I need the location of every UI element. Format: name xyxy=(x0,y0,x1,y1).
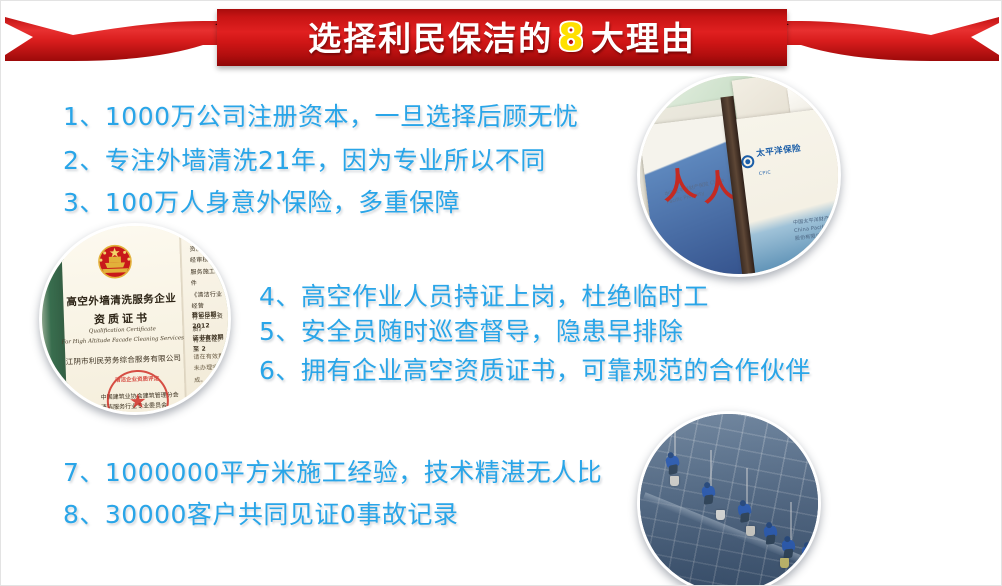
reason-text-7: 1000000平方米施工经验，技术精湛无人比 xyxy=(105,458,602,487)
reason-index-5: 5、 xyxy=(259,317,301,346)
reason-item-1: 1、1000万公司注册资本，一旦选择后顾无忧 xyxy=(63,97,579,133)
cpic-logo: 太平洋保险 CPIC xyxy=(739,136,804,181)
reason-index-4: 4、 xyxy=(259,282,301,311)
ribbon-banner: 选择利民保洁的8大理由 xyxy=(1,1,1002,73)
certificate-right-col-4: 地址：“中 网址： 电话： xyxy=(195,389,224,415)
cpic-logo-cn: 太平洋保险 xyxy=(756,144,802,159)
reason-index-8: 8、 xyxy=(63,500,105,529)
cpic-logo-mark-icon xyxy=(740,154,754,168)
reason-item-8: 8、30000客户共同见证0事故记录 xyxy=(63,495,458,531)
reason-text-8: 30000客户共同见证0事故记录 xyxy=(105,500,458,529)
reason-item-3: 3、100万人身意外保险，多重保障 xyxy=(63,183,460,219)
building-scene xyxy=(637,411,821,586)
reason-text-2: 专注外墙清洗21年，因为专业所以不同 xyxy=(105,146,546,175)
certificate-right-col-2: 登记日期： 2012 证书有效期至 2 xyxy=(192,309,230,356)
promo-poster: 选择利民保洁的8大理由 1、1000万公司注册资本，一旦选择后顾无忧 2、专注外… xyxy=(0,0,1002,586)
certificate-issuer-label: 发证机关 xyxy=(69,400,93,410)
photo-qualification-certificate: 高空外墙清洗服务企业 资质证书 Qualification Certificat… xyxy=(39,223,231,415)
reason-item-7: 7、1000000平方米施工经验，技术精湛无人比 xyxy=(63,453,602,489)
certificate-right-col-3: 请在有效期 未办理完成。 xyxy=(193,351,230,386)
reason-item-5: 5、安全员随时巡查督导，隐患早排除 xyxy=(259,312,683,348)
banner-number: 8 xyxy=(553,16,591,59)
banner-panel: 选择利民保洁的8大理由 xyxy=(217,9,787,66)
reason-text-4: 高空作业人员持证上岗，杜绝临时工 xyxy=(301,282,709,311)
cpic-logo-text: 太平洋保险 CPIC xyxy=(755,136,804,179)
reason-text-6: 拥有企业高空资质证书，可靠规范的合作伙伴 xyxy=(301,356,811,385)
reason-index-7: 7、 xyxy=(63,458,105,487)
reason-text-1: 1000万公司注册资本，一旦选择后顾无忧 xyxy=(105,102,579,131)
seal-top-text: 清洁企业资质评定 xyxy=(108,374,166,384)
certificate-red-seal-icon: 清洁企业资质评定 ★ 专用章 xyxy=(106,369,170,415)
cpic-footer: 中国太平洋财产保险 China Pacific Property Ins. 股份… xyxy=(793,211,841,243)
photo-high-altitude-workers xyxy=(637,411,821,586)
reason-text-3: 100万人身意外保险，多重保障 xyxy=(105,188,460,217)
reason-item-4: 4、高空作业人员持证上岗，杜绝临时工 xyxy=(259,277,709,313)
reason-item-2: 2、专注外墙清洗21年，因为专业所以不同 xyxy=(63,141,546,177)
seal-star-icon: ★ xyxy=(129,391,148,412)
reason-index-1: 1、 xyxy=(63,102,105,131)
national-emblem-icon xyxy=(91,242,138,284)
reason-item-6: 6、拥有企业高空资质证书，可靠规范的合作伙伴 xyxy=(259,351,811,387)
insurance-red-character-1: 人 xyxy=(659,156,699,209)
certificate-scene: 高空外墙清洗服务企业 资质证书 Qualification Certificat… xyxy=(39,223,231,415)
reason-index-3: 3、 xyxy=(63,188,105,217)
banner-title-after: 大理由 xyxy=(591,19,696,58)
reason-text-5: 安全员随时巡查督导，隐患早排除 xyxy=(301,317,684,346)
banner-title-before: 选择利民保洁的 xyxy=(308,19,553,58)
insurance-scene: 中国太平洋财产保险 China Pacific Property 人 人 太平洋… xyxy=(640,76,838,274)
building-shading-overlay xyxy=(637,411,821,586)
reason-index-2: 2、 xyxy=(63,146,105,175)
banner-title: 选择利民保洁的8大理由 xyxy=(308,19,696,56)
cpic-logo-en: CPIC xyxy=(759,170,772,176)
photo-insurance-documents: 中国太平洋财产保险 China Pacific Property 人 人 太平洋… xyxy=(637,73,841,277)
reason-index-6: 6、 xyxy=(259,356,301,385)
